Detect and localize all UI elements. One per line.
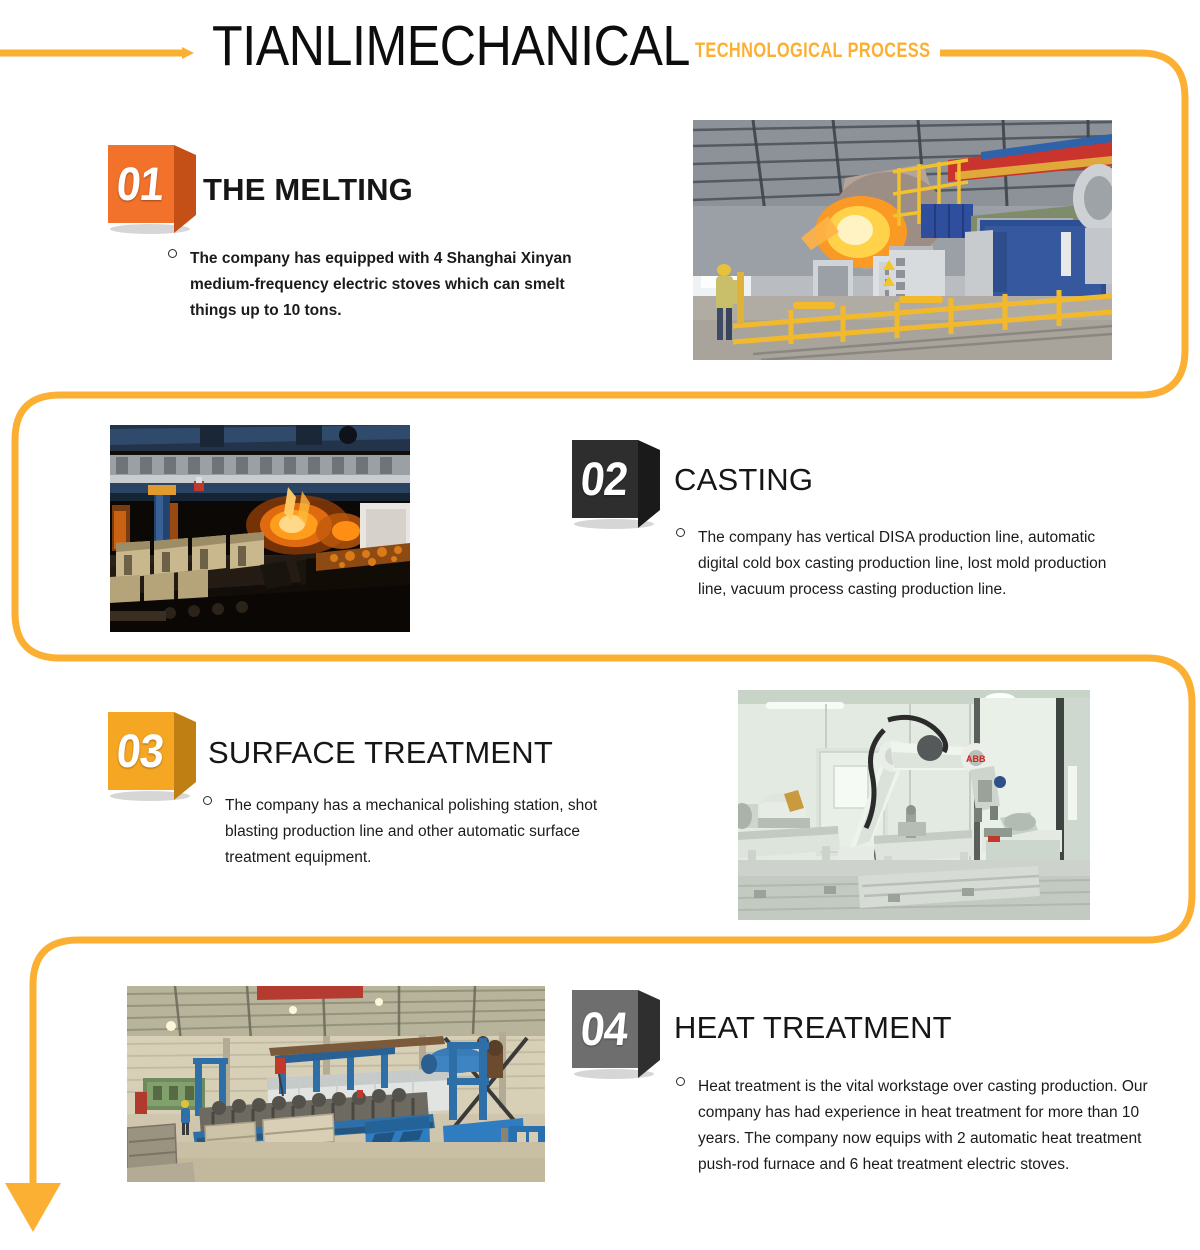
circle-bullet-icon (676, 1077, 685, 1086)
svg-text:ABB: ABB (966, 754, 986, 764)
badge-number-03: 03 (115, 727, 166, 774)
badge-face-04: 04 (572, 990, 638, 1068)
section-body-01: The company has equipped with 4 Shanghai… (168, 246, 588, 324)
photo-heat-treatment (127, 986, 545, 1182)
badge-face-01: 01 (108, 145, 174, 223)
section-title-02: CASTING (674, 462, 813, 498)
section-title-03: SURFACE TREATMENT (208, 735, 553, 771)
step-badge-01: 01 (108, 145, 192, 223)
circle-bullet-icon (676, 528, 685, 537)
photo-surface-treatment: ABB (738, 690, 1090, 920)
section-title-04: HEAT TREATMENT (674, 1010, 952, 1046)
section-body-02: The company has vertical DISA production… (676, 525, 1116, 603)
step-badge-04: 04 (572, 990, 656, 1068)
page-subtitle: TECHNOLOGICAL PROCESS (695, 40, 930, 61)
circle-bullet-icon (203, 796, 212, 805)
step-badge-02: 02 (572, 440, 656, 518)
badge-number-04: 04 (579, 1005, 630, 1052)
badge-face-03: 03 (108, 712, 174, 790)
badge-number-02: 02 (579, 455, 630, 502)
photo-casting (110, 425, 410, 632)
badge-face-02: 02 (572, 440, 638, 518)
page-title: TIANLIMECHANICAL (212, 18, 690, 75)
arrow-down-icon (5, 1183, 61, 1232)
section-title-01: THE MELTING (203, 172, 413, 208)
infographic-root: TIANLIMECHANICAL TECHNOLOGICAL PROCESS 0… (0, 0, 1200, 1250)
header: TIANLIMECHANICAL TECHNOLOGICAL PROCESS (0, 0, 1200, 100)
circle-bullet-icon (168, 249, 177, 258)
step-badge-03: 03 (108, 712, 192, 790)
photo-melting (693, 120, 1112, 360)
section-body-04: Heat treatment is the vital workstage ov… (676, 1074, 1151, 1178)
badge-number-01: 01 (115, 160, 166, 207)
section-body-03: The company has a mechanical polishing s… (203, 793, 623, 871)
